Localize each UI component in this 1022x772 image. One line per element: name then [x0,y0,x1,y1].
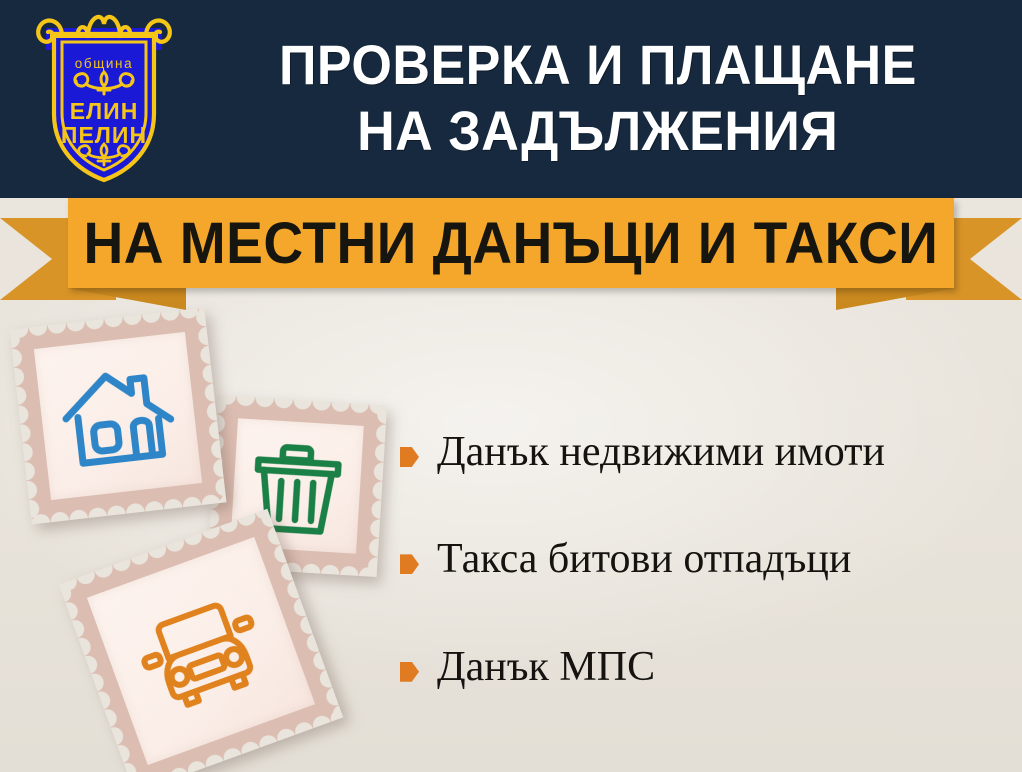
subtitle-ribbon: НА МЕСТНИ ДАНЪЦИ И ТАКСИ [0,198,1022,310]
bullet-arrow-icon [400,554,419,574]
bullet-arrow-icon [400,662,419,682]
page-title-line-2: НА ЗАДЪЛЖЕНИЯ [357,98,838,164]
poster-canvas: община ЕЛИН ПЕЛИН [0,0,1022,772]
svg-text:ЕЛИН: ЕЛИН [70,98,139,124]
ribbon-bar: НА МЕСТНИ ДАНЪЦИ И ТАКСИ [68,198,954,288]
header-title-block: ПРОВЕРКА И ПЛАЩАНЕ НА ЗАДЪЛЖЕНИЯ [190,18,1006,178]
bullet-arrow-icon [400,447,419,467]
page-title-line-1: ПРОВЕРКА И ПЛАЩАНЕ [279,32,917,98]
list-item-label: Данък недвижими имоти [437,430,885,475]
stamp-card-property-tax [10,308,227,525]
municipality-coat-of-arms: община ЕЛИН ПЕЛИН [24,6,184,192]
list-item-label: Данък МПС [437,645,655,690]
svg-text:община: община [75,56,133,71]
list-item-label: Такса битови отпадъци [437,537,851,582]
house-icon [52,355,184,478]
header-banner: община ЕЛИН ПЕЛИН [0,0,1022,198]
tax-types-list: Данък недвижими имоти Такса битови отпад… [400,430,1012,690]
ribbon-subtitle: НА МЕСТНИ ДАНЪЦИ И ТАКСИ [84,210,939,277]
coat-of-arms-svg: община ЕЛИН ПЕЛИН [24,6,184,192]
list-item[interactable]: Данък недвижими имоти [400,430,1012,475]
stamp-face [34,332,202,500]
list-item[interactable]: Такса битови отпадъци [400,537,1012,582]
list-item[interactable]: Данък МПС [400,645,1012,690]
car-icon [123,577,280,725]
